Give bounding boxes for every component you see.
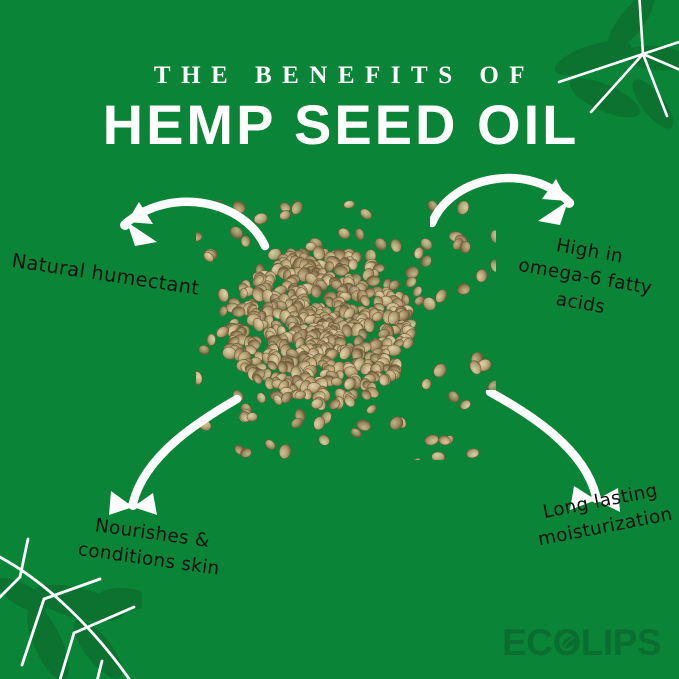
brand-logo: ECOLIPS (502, 621, 661, 665)
page-title: HEMP SEED OIL (0, 96, 679, 155)
leaf-icon-brand (559, 633, 579, 653)
benefit-label-high-in-omega-6: High in omega-6 fatty acids (504, 226, 665, 330)
hemp-seeds-image (196, 200, 496, 460)
infographic-canvas: THE BENEFITS OF HEMP SEED OIL (0, 0, 679, 679)
benefit-label-nourishes-conditions-skin: Nourishes & conditions skin (53, 508, 248, 586)
brand-name: ECOLIPS (502, 622, 661, 664)
page-kicker: THE BENEFITS OF (0, 62, 679, 90)
arrow-to-nourishes-conditions-skin (95, 395, 245, 530)
benefit-label-long-lasting-moisturization: Long lasting moisturization (512, 473, 679, 558)
benefit-label-natural-humectant: Natural humectant (10, 247, 222, 305)
